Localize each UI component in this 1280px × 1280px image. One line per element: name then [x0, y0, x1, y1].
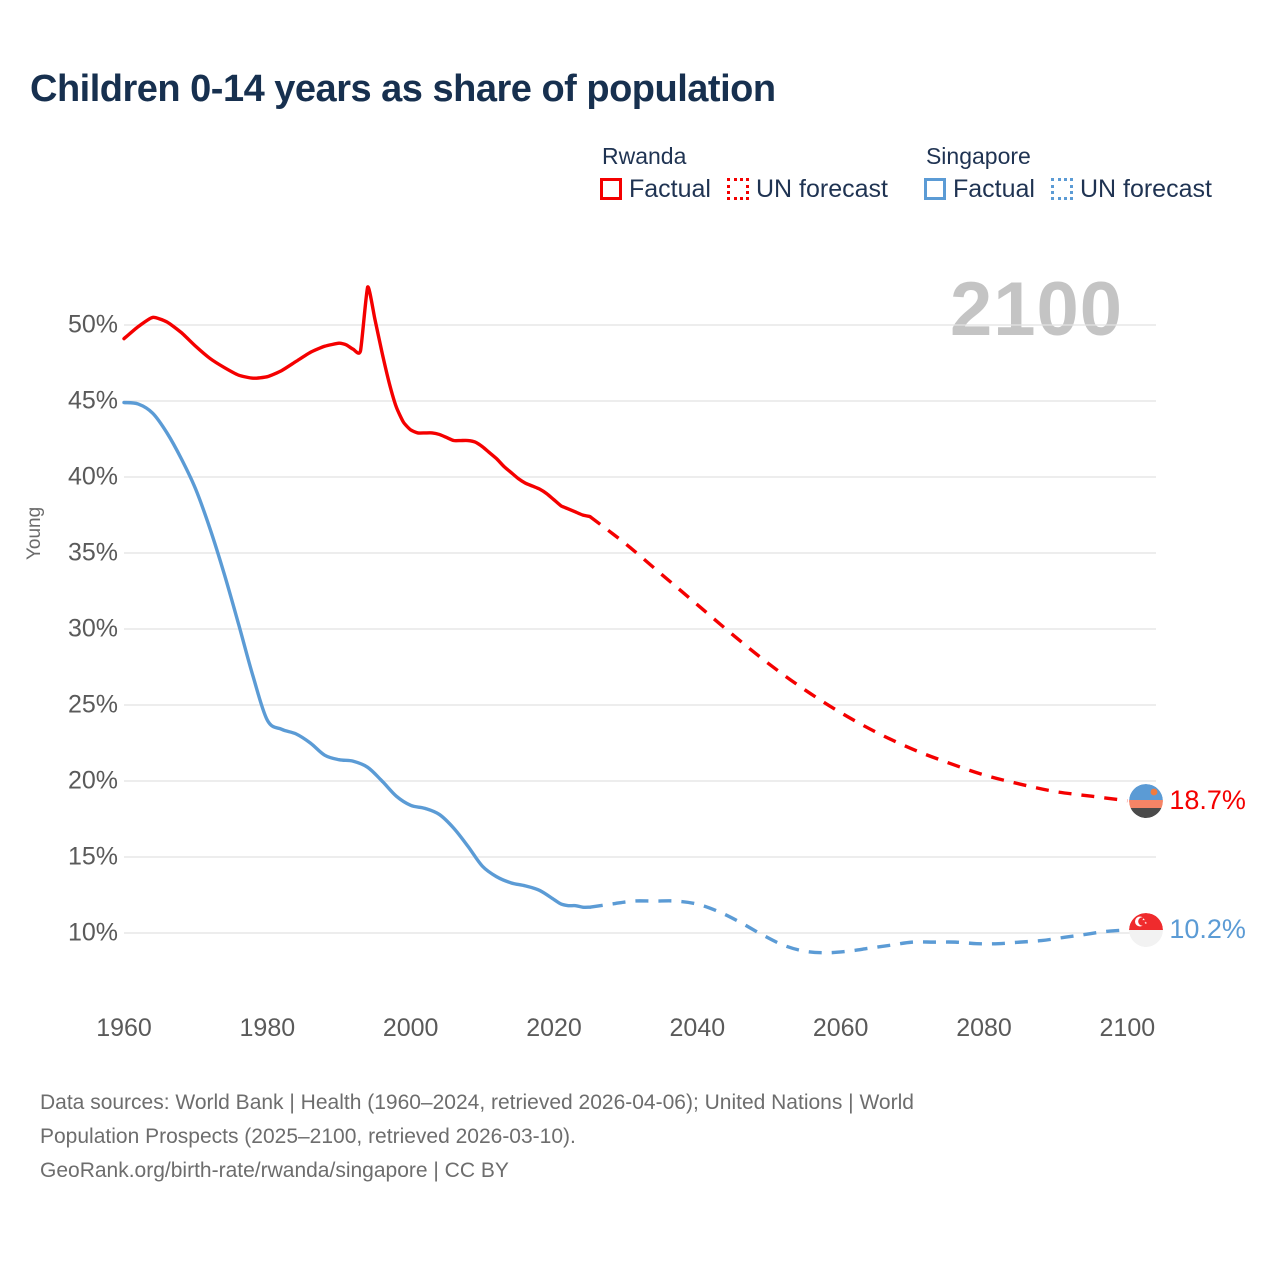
legend-group-singapore: Singapore Factual UN forecast: [924, 143, 1212, 204]
x-axis-tick: 2080: [956, 1014, 1012, 1043]
legend-item-singapore-factual[interactable]: Factual: [924, 175, 1035, 204]
svg-text:★: ★: [1144, 921, 1147, 925]
x-axis-tick: 2000: [383, 1014, 439, 1043]
end-label-value-singapore: 10.2%: [1169, 914, 1246, 945]
legend-label-rwanda-forecast: UN forecast: [756, 175, 888, 204]
chart-container: Children 0-14 years as share of populati…: [0, 0, 1280, 1280]
chart-legend: Rwanda Factual UN forecast Singapore Fac…: [600, 143, 1212, 204]
singapore-flag-icon: ★ ★: [1129, 913, 1163, 947]
legend-item-singapore-forecast[interactable]: UN forecast: [1051, 175, 1212, 204]
legend-group-rwanda: Rwanda Factual UN forecast: [600, 143, 888, 204]
y-axis-tick: 30%: [68, 615, 118, 644]
legend-label-rwanda-factual: Factual: [629, 175, 711, 204]
series-line-rwanda-un-forecast: [590, 517, 1127, 801]
x-axis-tick: 2060: [813, 1014, 869, 1043]
y-axis-tick: 10%: [68, 919, 118, 948]
year-watermark: 2100: [950, 272, 1123, 348]
legend-swatch-solid-red-icon: [600, 178, 622, 200]
legend-swatch-solid-blue-icon: [924, 178, 946, 200]
y-axis-tick: 20%: [68, 767, 118, 796]
series-line-singapore-factual: [124, 403, 590, 908]
legend-country-rwanda: Rwanda: [600, 143, 888, 171]
x-axis-tick: 2040: [670, 1014, 726, 1043]
legend-item-rwanda-forecast[interactable]: UN forecast: [727, 175, 888, 204]
legend-label-singapore-forecast: UN forecast: [1080, 175, 1212, 204]
y-axis-tick: 25%: [68, 691, 118, 720]
legend-swatch-dotted-red-icon: [727, 178, 749, 200]
legend-swatch-dotted-blue-icon: [1051, 178, 1073, 200]
y-axis-tick: 45%: [68, 387, 118, 416]
y-axis-tick: 40%: [68, 463, 118, 492]
page-title: Children 0-14 years as share of populati…: [30, 68, 776, 111]
y-axis-tick: 50%: [68, 311, 118, 340]
footer-line-1: Data sources: World Bank | Health (1960–…: [40, 1086, 1220, 1120]
end-label-singapore: ★ ★ 10.2%: [1129, 913, 1246, 947]
rwanda-flag-icon: [1129, 784, 1163, 818]
series-line-singapore-un-forecast: [590, 901, 1127, 953]
legend-country-singapore: Singapore: [924, 143, 1212, 171]
x-axis-tick: 2020: [526, 1014, 582, 1043]
x-axis-tick: 2100: [1100, 1014, 1156, 1043]
y-axis-tick: 15%: [68, 843, 118, 872]
legend-item-rwanda-factual[interactable]: Factual: [600, 175, 711, 204]
series-line-rwanda-factual: [124, 287, 590, 517]
footer-line-3: GeoRank.org/birth-rate/rwanda/singapore …: [40, 1154, 1220, 1188]
end-label-value-rwanda: 18.7%: [1169, 785, 1246, 816]
end-label-rwanda: 18.7%: [1129, 784, 1246, 818]
legend-label-singapore-factual: Factual: [953, 175, 1035, 204]
y-axis-tick: 35%: [68, 539, 118, 568]
x-axis-tick: 1960: [96, 1014, 152, 1043]
chart-footer: Data sources: World Bank | Health (1960–…: [40, 1086, 1220, 1188]
x-axis-tick: 1980: [240, 1014, 296, 1043]
footer-line-2: Population Prospects (2025–2100, retriev…: [40, 1120, 1220, 1154]
y-axis-label: Young: [24, 507, 46, 560]
